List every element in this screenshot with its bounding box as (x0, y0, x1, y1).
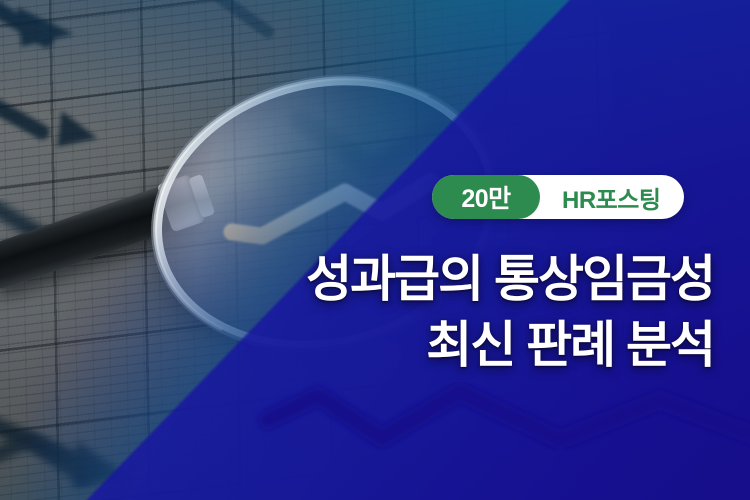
headline-line-2: 최신 판례 분석 (74, 312, 714, 378)
badge-count: 20만 (432, 175, 540, 219)
hr-posting-badge: 20만 HR포스팅 (432, 175, 684, 219)
hr-posting-banner: 20만 HR포스팅 성과급의 통상임금성 최신 판례 분석 (0, 0, 750, 500)
badge-label: HR포스팅 (562, 180, 660, 215)
headline-line-1: 성과급의 통상임금성 (74, 246, 714, 312)
headline: 성과급의 통상임금성 최신 판례 분석 (74, 246, 714, 378)
